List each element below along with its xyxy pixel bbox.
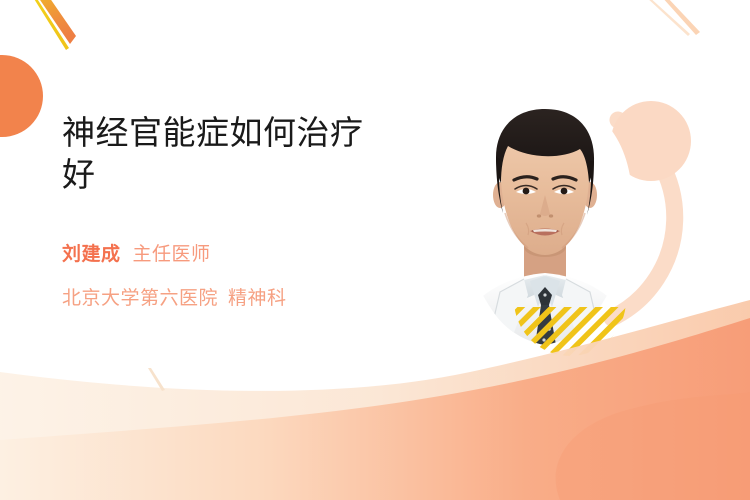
doctor-info-card: 神经官能症如何治疗好 刘建成主任医师 北京大学第六医院精神科 (0, 0, 750, 500)
page-title: 神经官能症如何治疗好 (62, 112, 392, 195)
doctor-hospital: 北京大学第六医院 (62, 287, 218, 309)
text-block: 神经官能症如何治疗好 刘建成主任医师 北京大学第六医院精神科 (62, 112, 422, 310)
doctor-name: 刘建成 (62, 243, 121, 265)
doctor-affiliation: 北京大学第六医院精神科 (62, 283, 422, 310)
doctor-role-title: 主任医师 (133, 243, 211, 265)
doctor-department: 精神科 (228, 287, 287, 309)
doctor-byline: 刘建成主任医师 (62, 240, 422, 269)
